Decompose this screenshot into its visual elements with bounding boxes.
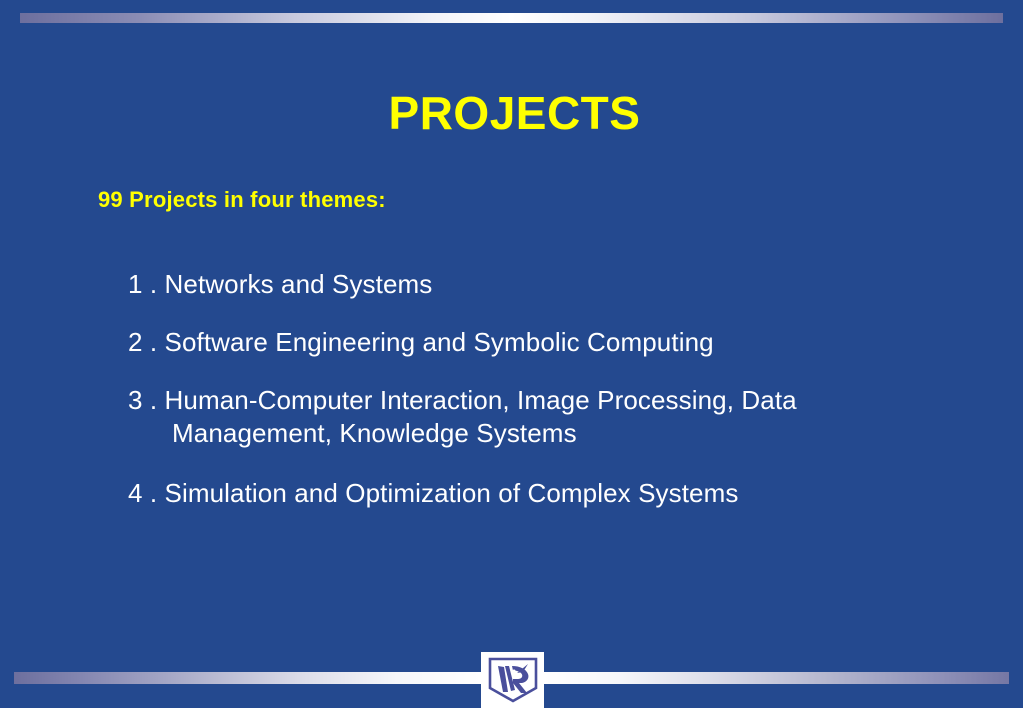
list-item: 1 . Networks and Systems — [128, 268, 958, 302]
themes-list: 1 . Networks and Systems 2 . Software En… — [128, 268, 958, 511]
list-item: 3 . Human-Computer Interaction, Image Pr… — [128, 384, 958, 452]
bottom-decorative-bar-right — [544, 672, 1009, 684]
slide-subtitle: 99 Projects in four themes: — [98, 187, 386, 213]
top-decorative-bar — [20, 13, 1003, 23]
page-title: PROJECTS — [0, 89, 1023, 137]
inria-logo-icon — [487, 657, 539, 703]
inria-logo — [481, 652, 544, 708]
bottom-decorative-bar-left — [14, 672, 481, 684]
presentation-slide: PROJECTS 99 Projects in four themes: 1 .… — [0, 0, 1023, 708]
list-item: 4 . Simulation and Optimization of Compl… — [128, 477, 958, 511]
list-item: 2 . Software Engineering and Symbolic Co… — [128, 326, 958, 360]
